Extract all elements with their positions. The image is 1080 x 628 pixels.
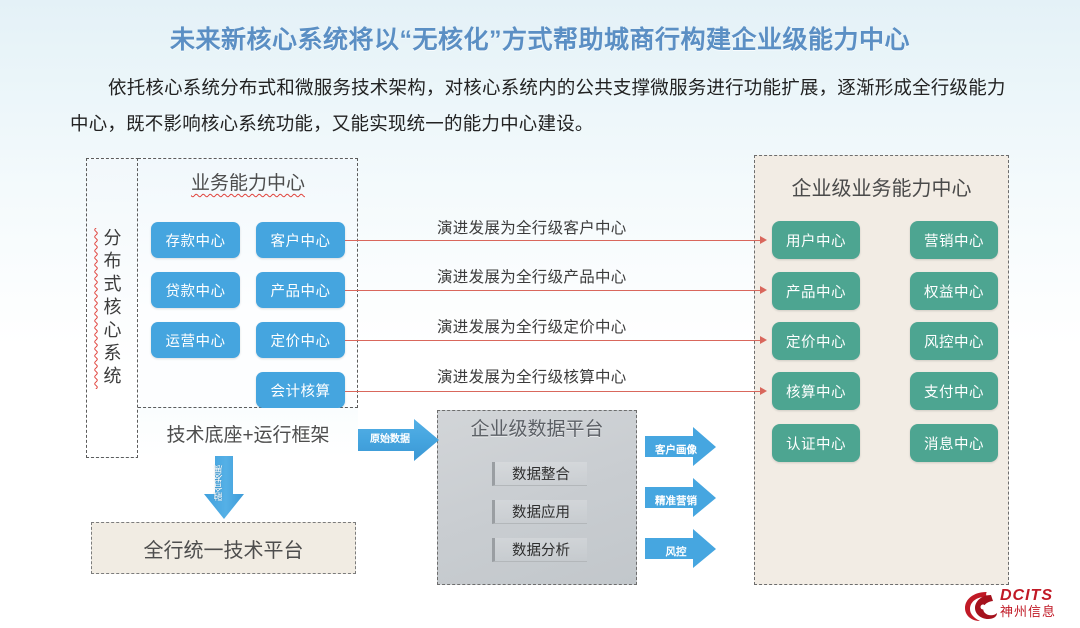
data-platform-item-analysis[interactable]: 数据分析 [492, 538, 587, 562]
evolution-label-2: 演进发展为全行级产品中心 [437, 265, 627, 287]
business-capability-center-title: 业务能力中心 [138, 168, 358, 195]
ecc-box-authentication[interactable]: 认证中心 [772, 424, 860, 462]
ecc-box-payment[interactable]: 支付中心 [910, 372, 998, 410]
capability-box-loan[interactable]: 贷款中心 [151, 272, 240, 308]
tech-base-label: 技术底座+运行框架 [138, 408, 358, 458]
outcome-arrow-label-marketing: 精准营销 [650, 493, 702, 508]
distributed-core-system-label: 分布式核心系统 [86, 158, 138, 458]
ecc-box-accounting[interactable]: 核算中心 [772, 372, 860, 410]
outcome-arrow-label-risk: 风控 [650, 544, 702, 559]
evolution-line-1 [345, 240, 760, 241]
ecc-box-pricing[interactable]: 定价中心 [772, 322, 860, 360]
evolution-line-4 [345, 391, 760, 392]
evolution-label-3: 演进发展为全行级定价中心 [437, 315, 627, 337]
unified-tech-platform: 全行统一技术平台 [91, 522, 356, 574]
capability-box-pricing[interactable]: 定价中心 [256, 322, 345, 358]
logo-text: DCITS 神州信息 [1000, 587, 1056, 620]
evolution-line-2 [345, 290, 760, 291]
data-platform-item-application[interactable]: 数据应用 [492, 500, 587, 524]
evolution-label-4: 演进发展为全行级核算中心 [437, 365, 627, 387]
evolution-line-3 [345, 340, 760, 341]
slide-canvas: 未来新核心系统将以“无核化”方式帮助城商行构建企业级能力中心 依托核心系统分布式… [0, 0, 1080, 628]
down-arrow-label: 融合发展 [210, 459, 226, 507]
capability-box-accounting[interactable]: 会计核算 [256, 372, 345, 408]
page-subtitle: 依托核心系统分布式和微服务技术架构，对核心系统内的公共支撑微服务进行功能扩展，逐… [70, 70, 1020, 142]
ecc-box-product[interactable]: 产品中心 [772, 272, 860, 310]
capability-box-deposit[interactable]: 存款中心 [151, 222, 240, 258]
evolution-label-1: 演进发展为全行级客户中心 [437, 216, 627, 238]
ecc-box-rights[interactable]: 权益中心 [910, 272, 998, 310]
capability-box-operation[interactable]: 运营中心 [151, 322, 240, 358]
evolution-arrowhead-4 [760, 387, 767, 395]
ecc-box-user[interactable]: 用户中心 [772, 221, 860, 259]
outcome-arrow-label-portrait: 客户画像 [650, 442, 702, 457]
vertical-label-text: 分布式核心系统 [99, 228, 125, 389]
evolution-arrowhead-3 [760, 336, 767, 344]
ecc-box-marketing[interactable]: 营销中心 [910, 221, 998, 259]
capability-box-customer[interactable]: 客户中心 [256, 222, 345, 258]
enterprise-capability-center-title: 企业级业务能力中心 [754, 172, 1009, 201]
logo-text-en: DCITS [1000, 587, 1056, 604]
raw-data-arrow-label: 原始数据 [362, 430, 418, 445]
ecc-box-message[interactable]: 消息中心 [910, 424, 998, 462]
evolution-arrowhead-1 [760, 236, 767, 244]
enterprise-data-platform-title: 企业级数据平台 [437, 414, 637, 441]
data-platform-item-integration[interactable]: 数据整合 [492, 462, 587, 486]
enterprise-capability-center-panel [754, 155, 1009, 585]
ecc-box-risk[interactable]: 风控中心 [910, 322, 998, 360]
evolution-arrowhead-2 [760, 286, 767, 294]
page-title: 未来新核心系统将以“无核化”方式帮助城商行构建企业级能力中心 [0, 20, 1080, 56]
capability-box-product[interactable]: 产品中心 [256, 272, 345, 308]
logo-text-cn: 神州信息 [1000, 604, 1056, 620]
